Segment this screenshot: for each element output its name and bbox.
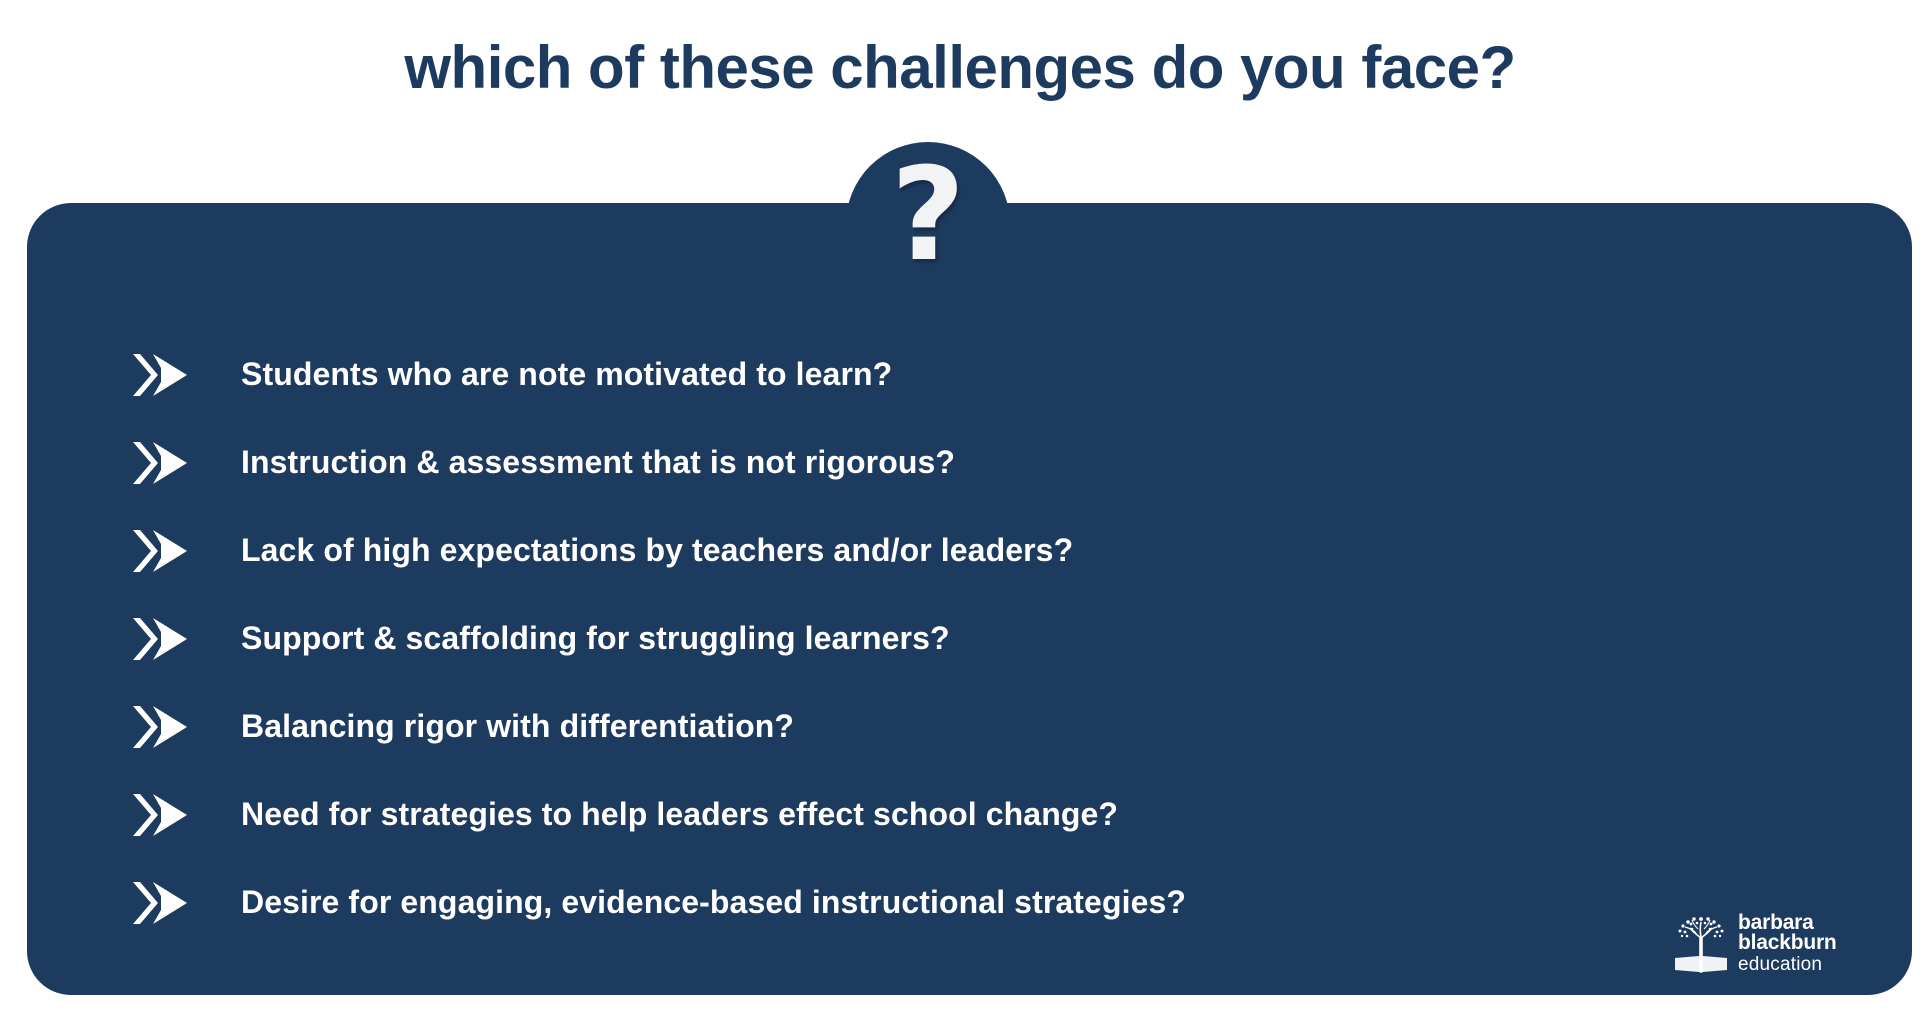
logo-wordmark: barbara blackburn education	[1738, 913, 1837, 976]
double-chevron-icon	[127, 352, 201, 398]
content-panel: Students who are note motivated to learn…	[27, 203, 1912, 995]
list-item: Balancing rigor with differentiation?	[127, 683, 1827, 771]
double-chevron-icon	[127, 528, 201, 574]
list-item-label: Students who are note motivated to learn…	[201, 357, 892, 392]
double-chevron-icon	[127, 440, 201, 486]
question-mark-icon: ?	[846, 152, 1010, 280]
tree-and-book-icon	[1672, 913, 1730, 975]
double-chevron-icon	[127, 704, 201, 750]
list-item: Support & scaffolding for struggling lea…	[127, 595, 1827, 683]
list-item-label: Support & scaffolding for struggling lea…	[201, 621, 950, 656]
list-item: Need for strategies to help leaders effe…	[127, 771, 1827, 859]
list-item: Students who are note motivated to learn…	[127, 331, 1827, 419]
double-chevron-icon	[127, 880, 201, 926]
slide-canvas: which of these challenges do you face? ?…	[0, 0, 1920, 1019]
logo-line-barbara: barbara	[1738, 913, 1837, 933]
list-item: Lack of high expectations by teachers an…	[127, 507, 1827, 595]
logo-line-education: education	[1738, 954, 1837, 976]
double-chevron-icon	[127, 792, 201, 838]
list-item: Desire for engaging, evidence-based inst…	[127, 859, 1827, 947]
list-item-label: Instruction & assessment that is not rig…	[201, 445, 955, 480]
brand-logo: barbara blackburn education	[1672, 905, 1902, 983]
challenges-list: Students who are note motivated to learn…	[127, 331, 1827, 947]
list-item-label: Lack of high expectations by teachers an…	[201, 533, 1073, 568]
list-item-label: Balancing rigor with differentiation?	[201, 709, 794, 744]
page-title: which of these challenges do you face?	[0, 38, 1920, 98]
list-item: Instruction & assessment that is not rig…	[127, 419, 1827, 507]
double-chevron-icon	[127, 616, 201, 662]
list-item-label: Desire for engaging, evidence-based inst…	[201, 885, 1186, 920]
list-item-label: Need for strategies to help leaders effe…	[201, 797, 1118, 832]
question-mark-badge: ?	[846, 142, 1010, 306]
logo-line-blackburn: blackburn	[1738, 933, 1837, 953]
